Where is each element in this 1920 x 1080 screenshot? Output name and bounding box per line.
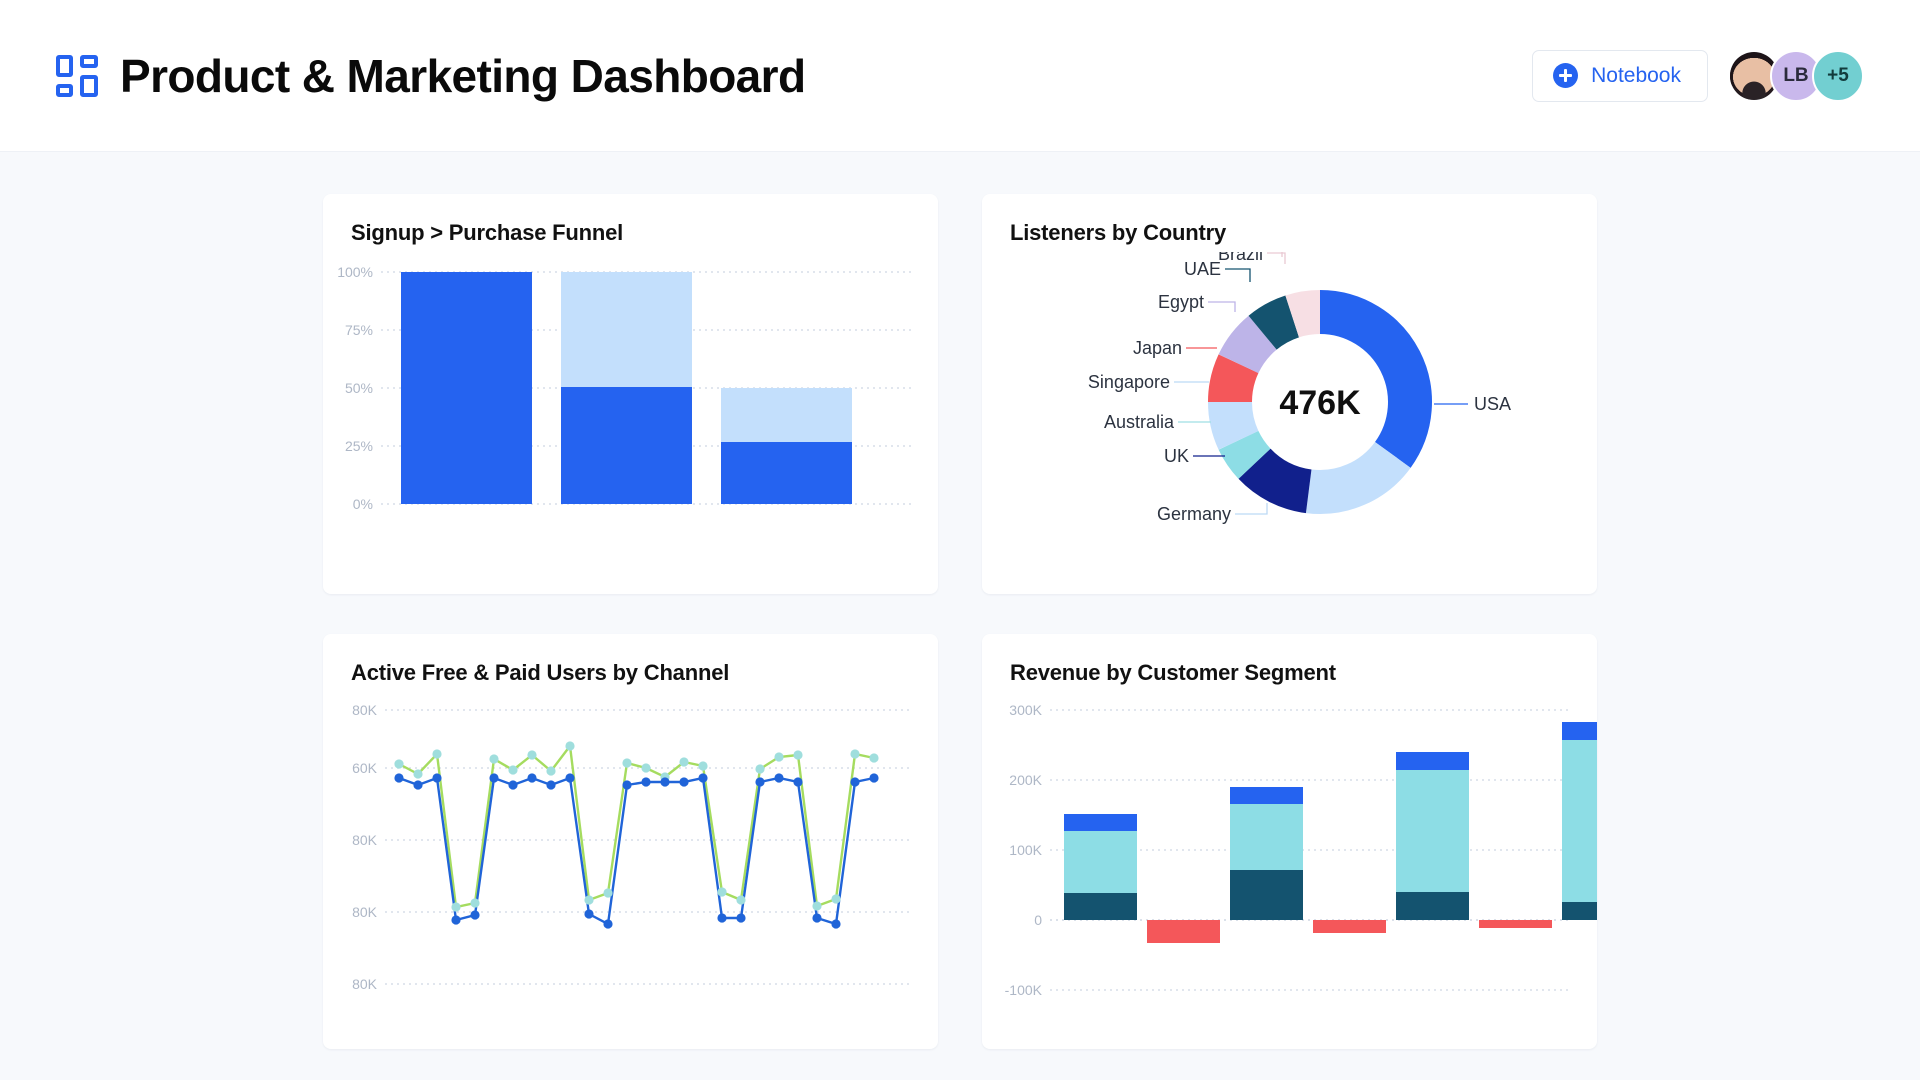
funnel-bar-remaining[interactable] bbox=[561, 272, 692, 387]
card-listeners-by-country[interactable]: Listeners by Country bbox=[982, 194, 1597, 594]
revenue-bar-base[interactable] bbox=[1562, 902, 1597, 920]
donut-slice-germany[interactable] bbox=[1309, 455, 1393, 492]
tick-label: 80K bbox=[352, 976, 378, 992]
tick-label: 80K bbox=[352, 832, 378, 848]
donut-chart[interactable]: 476K bbox=[982, 252, 1597, 594]
donut-slice-egypt[interactable] bbox=[1239, 333, 1263, 364]
tick-label: 60K bbox=[352, 760, 378, 776]
revenue-bar-growth[interactable] bbox=[1562, 740, 1597, 902]
tick-label: -100K bbox=[1005, 982, 1043, 998]
tick-label: 100% bbox=[337, 264, 373, 280]
page-title: Product & Marketing Dashboard bbox=[120, 49, 805, 103]
slice-label-brazil: Brazil bbox=[1218, 252, 1263, 264]
slice-label-germany: Germany bbox=[1157, 504, 1231, 524]
slice-label-uae: UAE bbox=[1184, 259, 1221, 279]
donut-slice-uk[interactable] bbox=[1255, 464, 1309, 492]
tick-label: 100K bbox=[1009, 842, 1042, 858]
revenue-bar-loss[interactable] bbox=[1147, 920, 1220, 943]
slice-label-uk: UK bbox=[1164, 446, 1189, 466]
slice-label-usa: USA bbox=[1474, 394, 1511, 414]
revenue-bar-growth[interactable] bbox=[1064, 831, 1137, 893]
line-chart[interactable]: 80K 60K 80K 80K 80K bbox=[323, 692, 938, 1049]
donut-center-value: 476K bbox=[1279, 384, 1361, 422]
header-right-group: Notebook LB +5 bbox=[1532, 50, 1864, 102]
tick-label: 80K bbox=[352, 702, 378, 718]
funnel-bar-remaining[interactable] bbox=[721, 388, 852, 442]
revenue-bar-growth[interactable] bbox=[1396, 770, 1469, 892]
tick-label: 300K bbox=[1009, 702, 1042, 718]
revenue-bar-growth[interactable] bbox=[1230, 804, 1303, 870]
circle-plus-icon bbox=[1553, 63, 1578, 88]
funnel-chart[interactable]: 100% 75% 50% 25% 0% bbox=[323, 252, 938, 594]
card-title: Active Free & Paid Users by Channel bbox=[351, 660, 910, 686]
tick-label: 80K bbox=[352, 904, 378, 920]
donut-slice-brazil[interactable] bbox=[1292, 312, 1320, 316]
tick-label: 200K bbox=[1009, 772, 1042, 788]
slice-label-japan: Japan bbox=[1133, 338, 1182, 358]
card-title: Signup > Purchase Funnel bbox=[351, 220, 910, 246]
card-active-users-by-channel[interactable]: Active Free & Paid Users by Channel 80K … bbox=[323, 634, 938, 1049]
revenue-bar-premium[interactable] bbox=[1396, 752, 1469, 770]
slice-label-singapore: Singapore bbox=[1088, 372, 1170, 392]
avatar-overflow-count[interactable]: +5 bbox=[1812, 50, 1864, 102]
revenue-bar-loss[interactable] bbox=[1313, 920, 1386, 933]
funnel-y-ticklabels: 100% 75% 50% 25% 0% bbox=[337, 264, 373, 512]
dashboard-grid: Signup > Purchase Funnel 100% 75% 50% 25… bbox=[0, 152, 1920, 1049]
line-series-free[interactable] bbox=[399, 746, 874, 907]
funnel-bar-completed[interactable] bbox=[721, 442, 852, 504]
tick-label: 0 bbox=[1034, 912, 1042, 928]
add-notebook-button[interactable]: Notebook bbox=[1532, 50, 1708, 102]
donut-slice-australia[interactable] bbox=[1239, 440, 1255, 463]
revenue-bar-premium[interactable] bbox=[1230, 787, 1303, 804]
donut-slice-uae[interactable] bbox=[1263, 316, 1293, 332]
revenue-bar-loss[interactable] bbox=[1479, 920, 1552, 928]
funnel-bar-completed[interactable] bbox=[561, 387, 692, 504]
revenue-bar-premium[interactable] bbox=[1064, 814, 1137, 831]
tick-label: 25% bbox=[345, 438, 373, 454]
slice-label-australia: Australia bbox=[1104, 412, 1175, 432]
card-title: Revenue by Customer Segment bbox=[1010, 660, 1569, 686]
revenue-y-ticklabels: 300K 200K 100K 0 -100K bbox=[1005, 702, 1043, 998]
revenue-chart[interactable]: 300K 200K 100K 0 -100K bbox=[982, 692, 1597, 1049]
add-notebook-label: Notebook bbox=[1591, 64, 1681, 88]
line-gridlines bbox=[385, 710, 911, 984]
avatar-group[interactable]: LB +5 bbox=[1728, 50, 1864, 102]
revenue-bar-base[interactable] bbox=[1064, 893, 1137, 920]
tick-label: 75% bbox=[345, 322, 373, 338]
donut-rings: 476K bbox=[1230, 312, 1410, 492]
tick-label: 0% bbox=[353, 496, 373, 512]
revenue-bar-premium[interactable] bbox=[1562, 722, 1597, 740]
header-left-group: Product & Marketing Dashboard bbox=[56, 49, 805, 103]
card-title: Listeners by Country bbox=[1010, 220, 1569, 246]
dashboard-grid-icon bbox=[56, 55, 98, 97]
line-y-ticklabels: 80K 60K 80K 80K 80K bbox=[352, 702, 378, 992]
app-header: Product & Marketing Dashboard Notebook L… bbox=[0, 0, 1920, 152]
slice-label-egypt: Egypt bbox=[1158, 292, 1204, 312]
donut-slice-singapore[interactable] bbox=[1230, 402, 1239, 440]
donut-slice-japan[interactable] bbox=[1230, 364, 1239, 402]
card-signup-purchase-funnel[interactable]: Signup > Purchase Funnel 100% 75% 50% 25… bbox=[323, 194, 938, 594]
funnel-bar-completed[interactable] bbox=[401, 272, 532, 504]
revenue-bar-base[interactable] bbox=[1230, 870, 1303, 920]
tick-label: 50% bbox=[345, 380, 373, 396]
card-revenue-by-customer-segment[interactable]: Revenue by Customer Segment 300K 200K 10… bbox=[982, 634, 1597, 1049]
revenue-bar-base[interactable] bbox=[1396, 892, 1469, 920]
